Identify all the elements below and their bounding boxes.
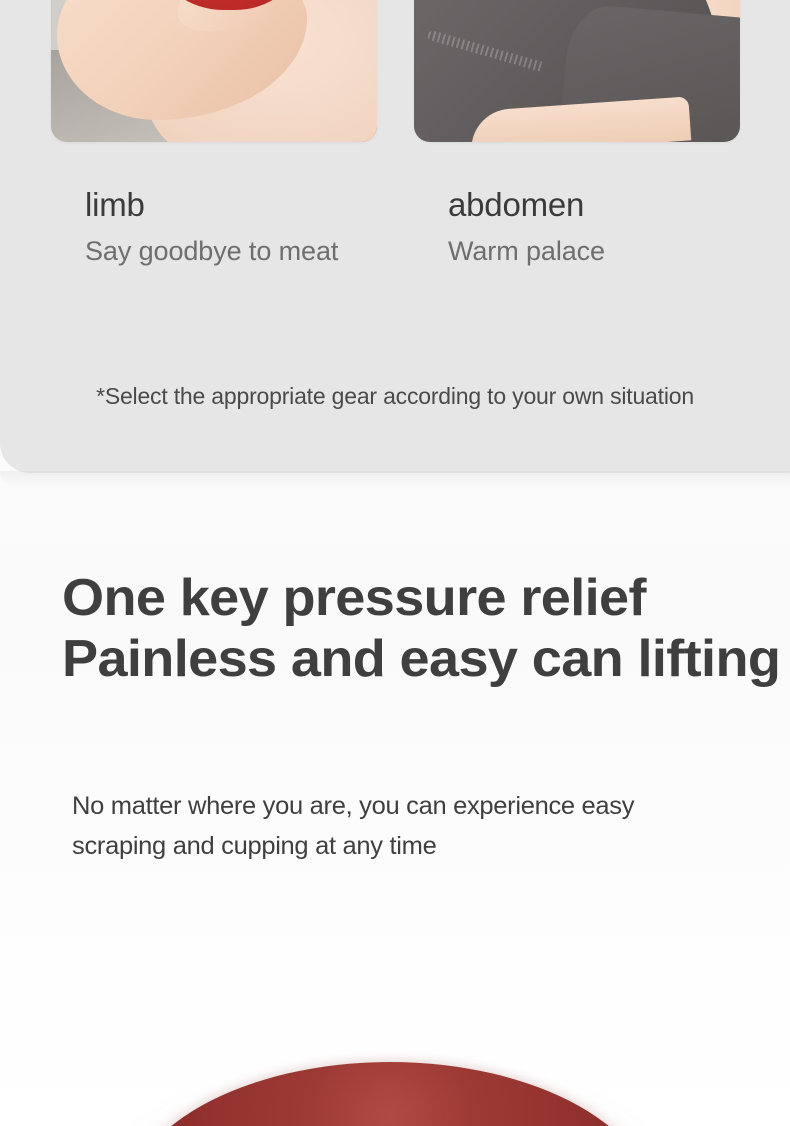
- caption-column-limb: limb Say goodbye to meat: [85, 185, 448, 268]
- product-device-image: [123, 1062, 657, 1126]
- limb-photo-illustration: [51, 0, 377, 142]
- feature-body-line-1: No matter where you are, you can experie…: [72, 786, 745, 826]
- gear-selection-note: *Select the appropriate gear according t…: [0, 380, 790, 412]
- abdomen-photo-illustration: [414, 0, 740, 142]
- product-detail-page: limb Say goodbye to meat abdomen Warm pa…: [0, 0, 790, 1126]
- feature-headline-line-1: One key pressure relief: [62, 568, 790, 629]
- scenario-captions: limb Say goodbye to meat abdomen Warm pa…: [0, 185, 790, 268]
- caption-column-abdomen: abdomen Warm palace: [448, 185, 768, 268]
- feature-body-line-2: scraping and cupping at any time: [72, 826, 745, 866]
- scenario-photo-limb[interactable]: [51, 0, 377, 142]
- feature-body-text: No matter where you are, you can experie…: [72, 786, 745, 866]
- caption-title-limb: limb: [85, 185, 448, 225]
- feature-headline: One key pressure relief Painless and eas…: [62, 568, 790, 690]
- caption-title-abdomen: abdomen: [448, 185, 768, 225]
- feature-headline-line-2: Painless and easy can lifting: [62, 629, 790, 690]
- caption-subtitle-abdomen: Warm palace: [448, 234, 768, 268]
- caption-subtitle-limb: Say goodbye to meat: [85, 234, 448, 268]
- scenario-photo-row: [0, 0, 790, 142]
- scenario-photo-abdomen[interactable]: [414, 0, 740, 142]
